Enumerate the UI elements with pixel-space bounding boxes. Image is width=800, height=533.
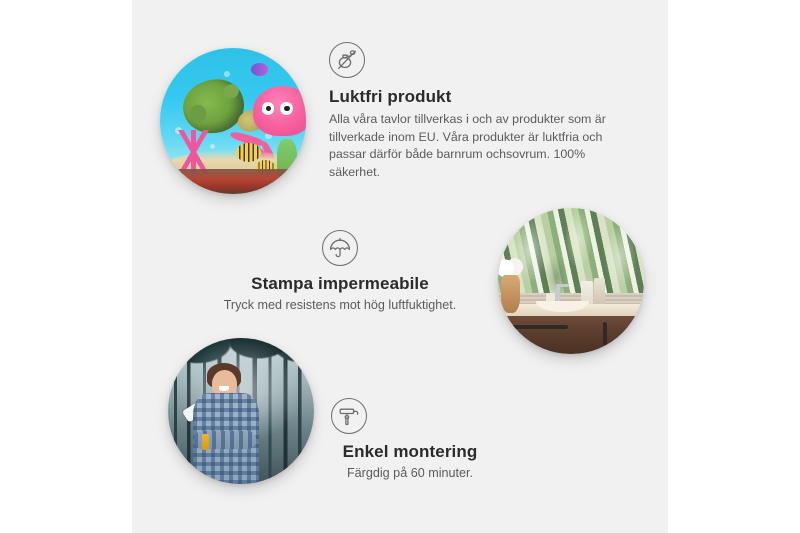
wood-cabinet — [504, 316, 644, 354]
turtle-flipper — [189, 103, 209, 123]
icon-wrapper — [205, 230, 475, 274]
feature-title: Stampa impermeabile — [205, 274, 475, 294]
pink-coral-icon — [172, 130, 216, 174]
feature-title: Luktfri produkt — [329, 87, 625, 107]
feature-odourless: Luktfri produkt Alla våra tavlor tillver… — [329, 42, 625, 181]
feature-description: Tryck med resistens mot hög luftfuktighe… — [205, 297, 475, 315]
icon-wrapper — [300, 398, 520, 442]
feature-title: Enkel montering — [300, 442, 520, 462]
feature-easy-mounting: Enkel montering Färgdig på 60 minuter. — [300, 398, 520, 483]
octopus-icon — [253, 86, 306, 136]
octopus-eye — [262, 102, 275, 115]
sea-bottom-strip — [160, 169, 306, 194]
woman-smile — [219, 386, 229, 390]
blue-fish-icon — [251, 63, 269, 76]
paint-roller-icon — [331, 398, 367, 434]
door-handle — [603, 322, 607, 345]
image-bathroom-tropical-wallpaper — [498, 208, 644, 354]
product-feature-banner: Luktfri produkt Alla våra tavlor tillver… — [0, 0, 800, 533]
image-underwater-scene — [160, 48, 306, 194]
vase — [501, 275, 520, 313]
drawer-pull-handle — [510, 325, 568, 329]
forest-artwork — [168, 338, 314, 484]
underwater-artwork — [160, 48, 306, 194]
icon-wrapper — [329, 42, 625, 78]
bathroom-artwork — [498, 208, 644, 354]
no-smell-perfume-bottle-icon — [329, 42, 365, 78]
feature-description: Alla våra tavlor tillverkas i och av pro… — [329, 111, 625, 181]
yellow-fish-icon — [236, 143, 261, 162]
feature-description: Färgdig på 60 minuter. — [300, 465, 520, 483]
umbrella-icon — [322, 230, 358, 266]
faucet-icon — [556, 284, 560, 303]
octopus-eye — [280, 102, 293, 115]
image-woman-forest-wallpaper — [168, 338, 314, 484]
yellow-tool — [202, 434, 209, 450]
feature-waterproof: Stampa impermeabile Tryck med resistens … — [205, 230, 475, 315]
